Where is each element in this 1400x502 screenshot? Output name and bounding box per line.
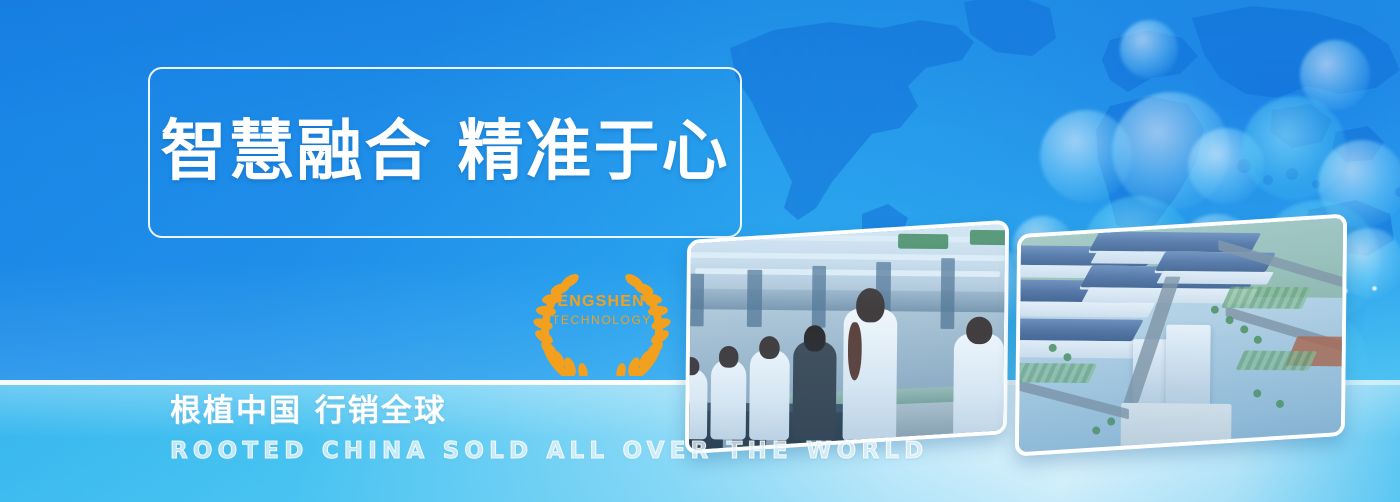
- pengsheng-logo: PENGSHENG TECHNOLOGY: [527, 272, 677, 376]
- laurel-wreath-icon: [532, 272, 672, 376]
- headline-box: 智慧融合 精准于心: [148, 67, 742, 238]
- page-title: 智慧融合 精准于心: [150, 118, 740, 184]
- tagline-chinese: 根植中国 行销全球: [170, 392, 928, 432]
- tagline-english: ROOTED CHINA SOLD ALL OVER THE WORLD: [170, 438, 928, 466]
- promo-banner: 智慧融合 精准于心: [0, 0, 1400, 502]
- tagline: 根植中国 行销全球 ROOTED CHINA SOLD ALL OVER THE…: [170, 392, 928, 465]
- factory-campus-aerial-photo: [1015, 214, 1347, 457]
